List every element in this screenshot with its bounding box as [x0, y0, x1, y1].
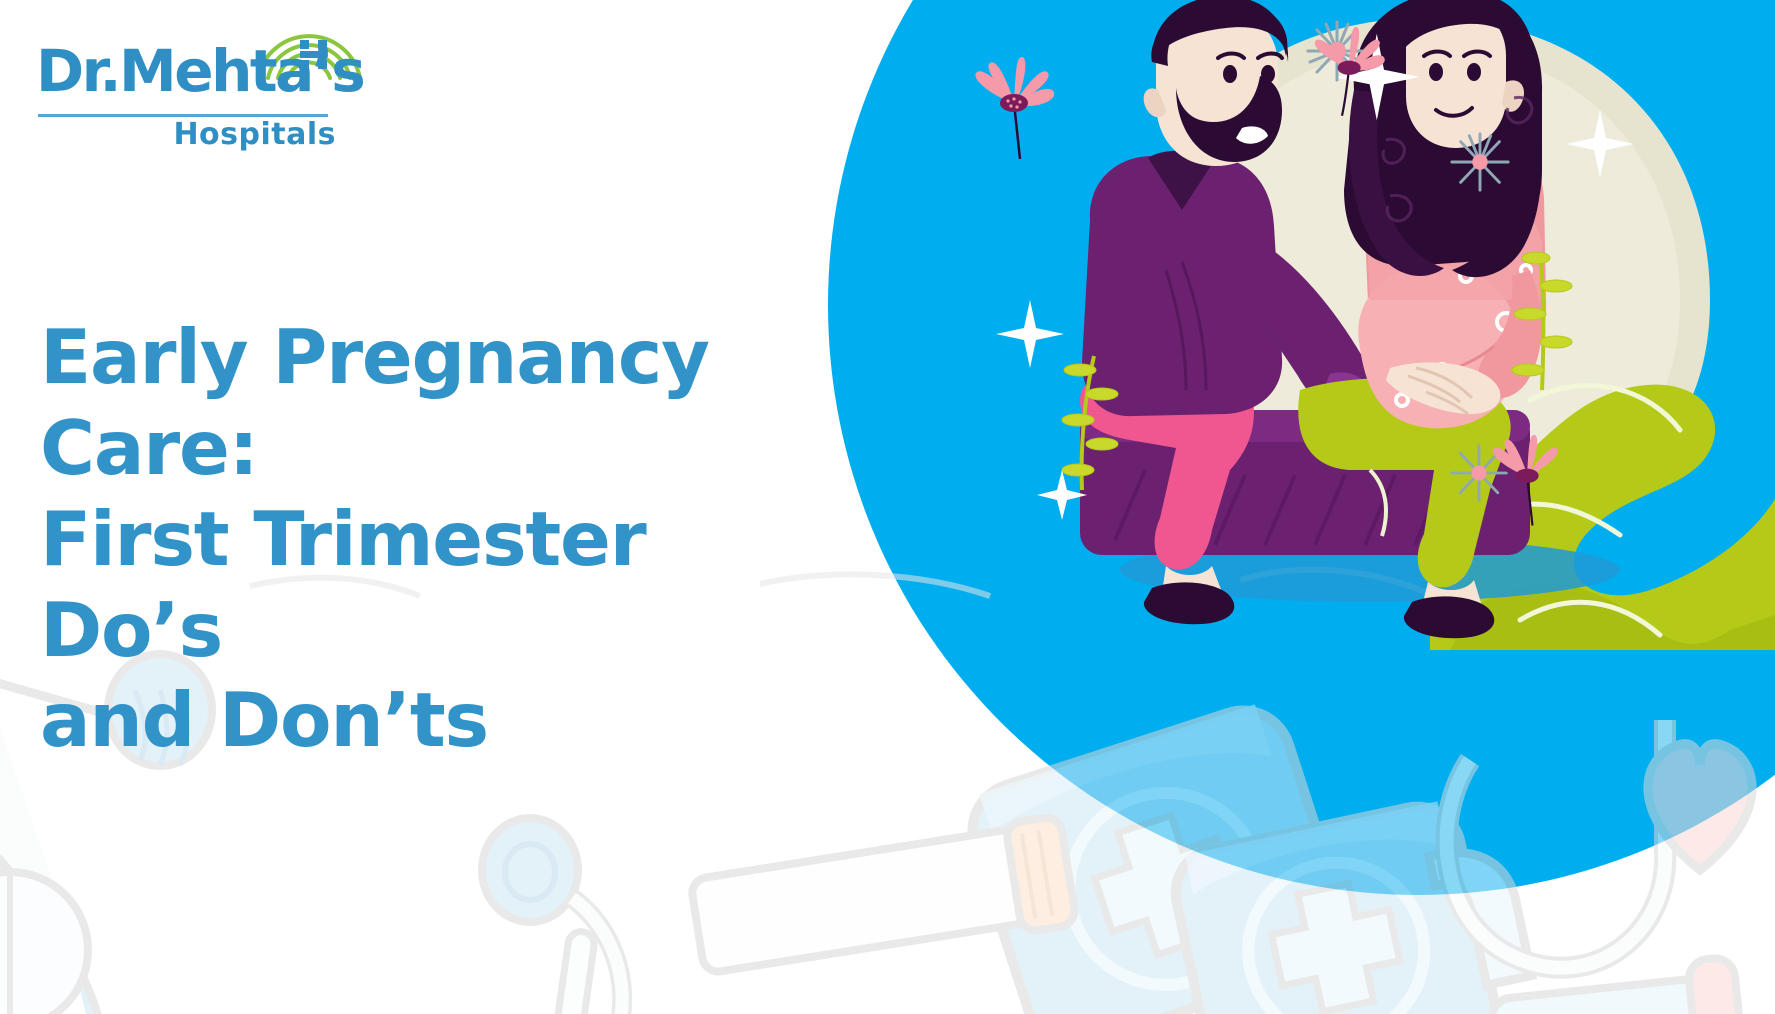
logo-wordmark: Dr.Mehta’s	[36, 42, 363, 100]
logo-subtitle: Hospitals	[173, 120, 336, 150]
gray-daisy-flower-2	[1448, 130, 1512, 194]
man-head	[1144, 0, 1288, 166]
pink-cosmos-flower-3	[1310, 24, 1390, 124]
page-title: Early Pregnancy Care: First Trimester Do…	[40, 312, 840, 766]
banner-canvas: Dr.Mehta’s Hospitals Early Pregnancy Car…	[0, 0, 1775, 1014]
pink-cosmos-flower	[970, 55, 1060, 165]
brand-logo[interactable]: Dr.Mehta’s Hospitals	[36, 18, 336, 148]
pink-cosmos-flower-2	[1488, 432, 1568, 532]
